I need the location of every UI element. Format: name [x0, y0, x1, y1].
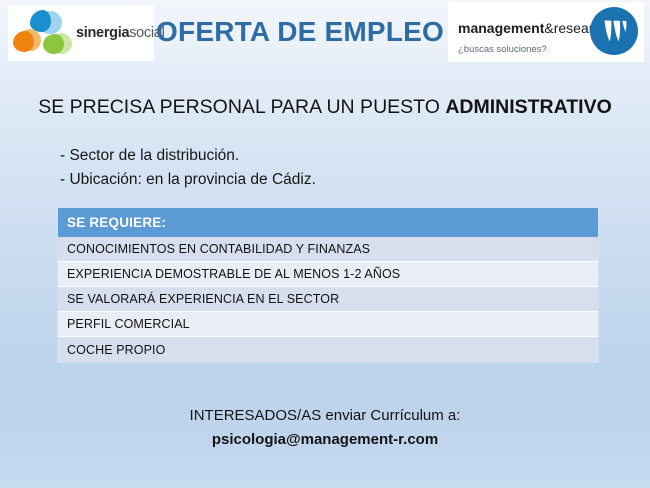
requirements-table: SE REQUIERE: CONOCIMIENTOS EN CONTABILID…	[57, 207, 599, 363]
table-row: COCHE PROPIO	[58, 337, 598, 362]
list-item: - Sector de la distribución.	[60, 144, 316, 168]
sinergia-wordmark: sinergiasocial	[76, 25, 165, 41]
sinergia-petals-icon	[10, 7, 78, 59]
table-row: CONOCIMIENTOS EN CONTABILIDAD Y FINANZAS	[58, 237, 598, 262]
job-details-list: - Sector de la distribución. - Ubicación…	[60, 144, 316, 192]
job-offer-slide: sinergiasocial OFERTA DE EMPLEO manageme…	[0, 0, 650, 488]
page-title: OFERTA DE EMPLEO	[155, 16, 445, 48]
contact-instruction: INTERESADOS/AS enviar Currículum a:	[0, 404, 650, 428]
mr-word-ampersand: &	[544, 20, 553, 36]
job-heading-emphasis: ADMINISTRATIVO	[445, 96, 611, 118]
orange-petal-icon	[13, 31, 34, 52]
mr-word-bold: management	[458, 20, 544, 36]
contact-email[interactable]: psicologia@management-r.com	[0, 428, 650, 452]
contact-footer: INTERESADOS/AS enviar Currículum a: psic…	[0, 404, 650, 452]
table-row: SE VALORARÁ EXPERIENCIA EN EL SECTOR	[58, 287, 598, 312]
requirements-table-header: SE REQUIERE:	[58, 208, 598, 237]
job-heading: SE PRECISA PERSONAL PARA UN PUESTO ADMIN…	[0, 96, 650, 119]
sinergia-social-logo: sinergiasocial	[8, 5, 154, 61]
management-research-mark-icon	[590, 7, 638, 55]
management-research-tagline: ¿buscas soluciones?	[458, 44, 547, 55]
sinergia-word-bold: sinergia	[76, 25, 129, 41]
management-research-wordmark: management&research	[458, 20, 608, 36]
table-row: PERFIL COMERCIAL	[58, 312, 598, 337]
green-petal-icon	[43, 34, 64, 54]
management-research-logo: management&research ¿buscas soluciones?	[448, 2, 644, 62]
list-item: - Ubicación: en la provincia de Cádiz.	[60, 168, 316, 192]
table-row: EXPERIENCIA DEMOSTRABLE DE AL MENOS 1-2 …	[58, 262, 598, 287]
job-heading-lead: SE PRECISA PERSONAL PARA UN PUESTO	[38, 96, 445, 118]
header-band: sinergiasocial OFERTA DE EMPLEO manageme…	[0, 0, 650, 72]
